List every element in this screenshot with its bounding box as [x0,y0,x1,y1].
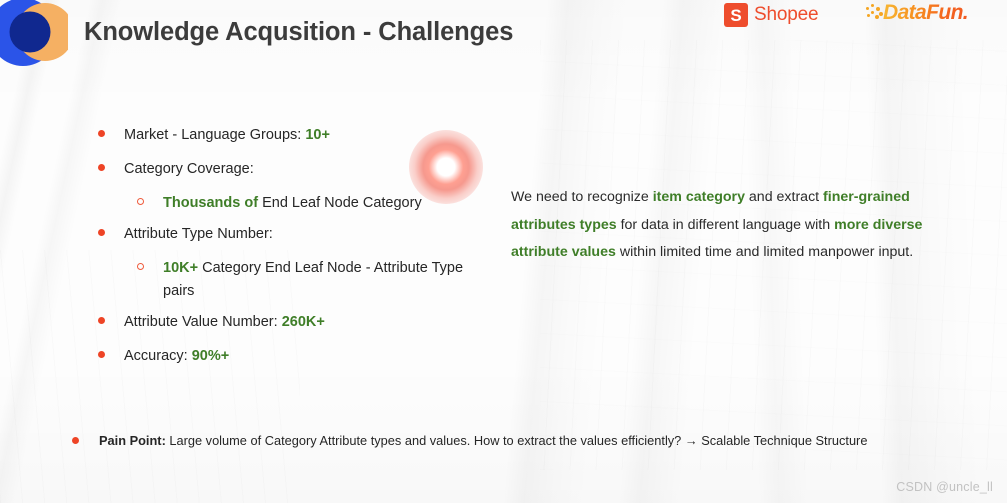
datafun-logo: DataFun. [866,1,968,25]
bullet-item: Market - Language Groups: 10+ [98,124,498,147]
bullet-item-label: Attribute Type Number: [124,223,273,246]
bullet-item-label: Category Coverage: [124,158,254,181]
summary-text-segment: item category [653,189,745,205]
bullet-item: Accuracy: 90%+ [98,345,498,368]
bullet-text-segment: 10K+ [163,260,202,276]
datafun-dots-icon [866,3,884,23]
summary-text-segment: and extract [745,189,823,205]
bullet-item: Attribute Type Number: [98,223,498,246]
bullet-dot-icon [98,317,105,324]
bullet-text-segment: Category Coverage: [124,161,254,177]
challenges-bullet-list: Market - Language Groups: 10+Category Co… [98,124,498,379]
slide-canvas: Knowledge Acqusition - Challenges S Shop… [0,0,1007,503]
bullet-item-label: Thousands of End Leaf Node Category [163,192,422,215]
bullet-text-segment: Thousands of [163,195,262,211]
bullet-text-segment: End Leaf Node Category [262,195,422,211]
bullet-text-segment: 260K+ [282,314,325,330]
pain-point-row: Pain Point: Large volume of Category Att… [72,432,867,450]
bullet-text-segment: Accuracy: [124,348,192,364]
bullet-item-label: Attribute Value Number: 260K+ [124,311,325,334]
bullet-dot-icon [72,437,79,444]
bullet-item: Category Coverage: [98,158,498,181]
shopee-wordmark: Shopee [754,4,818,26]
bullet-item-label: Market - Language Groups: 10+ [124,124,330,147]
bullet-dot-icon [98,164,105,171]
pain-point-text-segment: Large volume of Category Attribute types… [166,433,868,448]
bullet-item-label: Accuracy: 90%+ [124,345,229,368]
summary-text-segment: We need to recognize [511,189,653,205]
bullet-dot-icon [98,229,105,236]
bullet-item: Thousands of End Leaf Node Category [137,192,498,215]
bullet-dot-icon [98,130,105,137]
bullet-text-segment: Category End Leaf Node - Attribute Type … [163,260,463,299]
bullet-text-segment: Attribute Type Number: [124,226,273,242]
summary-text-segment: within limited time and limited manpower… [616,244,913,260]
csdn-watermark: CSDN @uncle_ll [896,480,993,494]
shopee-s-icon: S [724,3,748,27]
summary-paragraph: We need to recognize item category and e… [511,184,948,267]
bullet-dot-icon [98,351,105,358]
pain-point-text: Pain Point: Large volume of Category Att… [99,432,867,450]
bullet-text-segment: 10+ [305,127,330,143]
shopee-logo: S Shopee [724,3,818,27]
bullet-text-segment: Attribute Value Number: [124,314,282,330]
bullet-text-segment: 90%+ [192,348,230,364]
bullet-item: 10K+ Category End Leaf Node - Attribute … [137,257,498,303]
pain-point-text-segment: Pain Point: [99,433,166,448]
bullet-ring-icon [137,263,144,270]
bullet-item: Attribute Value Number: 260K+ [98,311,498,334]
summary-text-segment: for data in different language with [617,217,834,233]
page-title: Knowledge Acqusition - Challenges [84,18,513,47]
bullet-ring-icon [137,198,144,205]
bullet-item-label: 10K+ Category End Leaf Node - Attribute … [163,257,498,303]
bullet-text-segment: Market - Language Groups: [124,127,305,143]
datafun-wordmark: DataFun. [883,1,968,25]
overlapping-circles-logo-icon [0,0,68,70]
